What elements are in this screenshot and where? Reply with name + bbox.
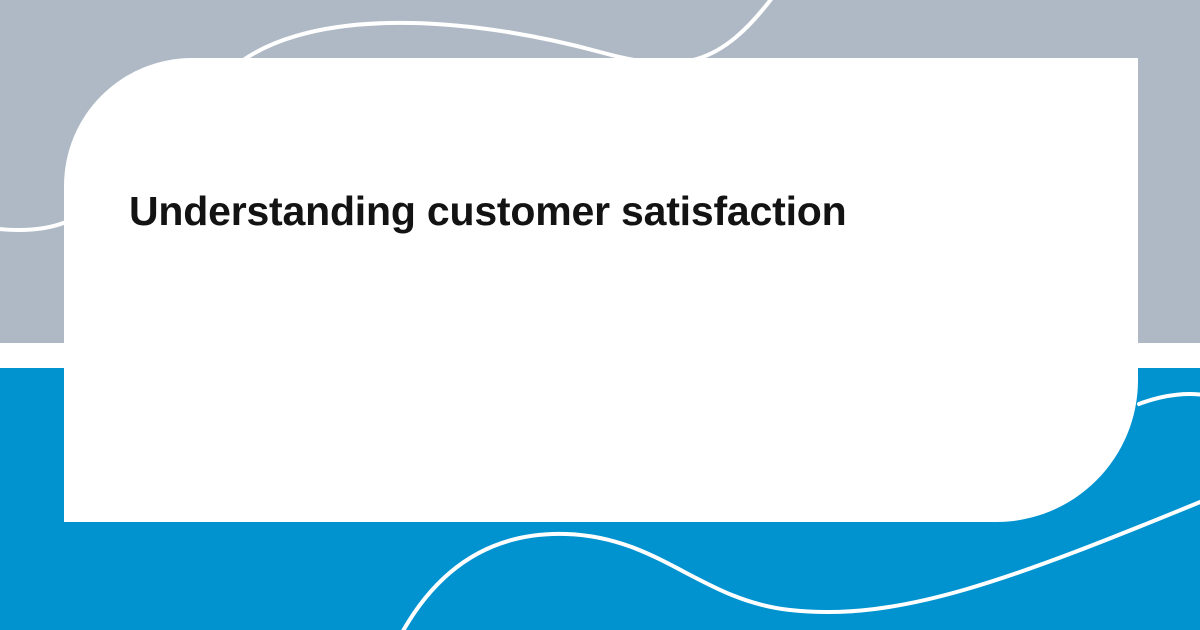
banner-canvas: Understanding customer satisfaction (0, 0, 1200, 630)
page-title: Understanding customer satisfaction (129, 186, 846, 237)
content-card (64, 58, 1138, 522)
card-inner (64, 58, 1138, 522)
